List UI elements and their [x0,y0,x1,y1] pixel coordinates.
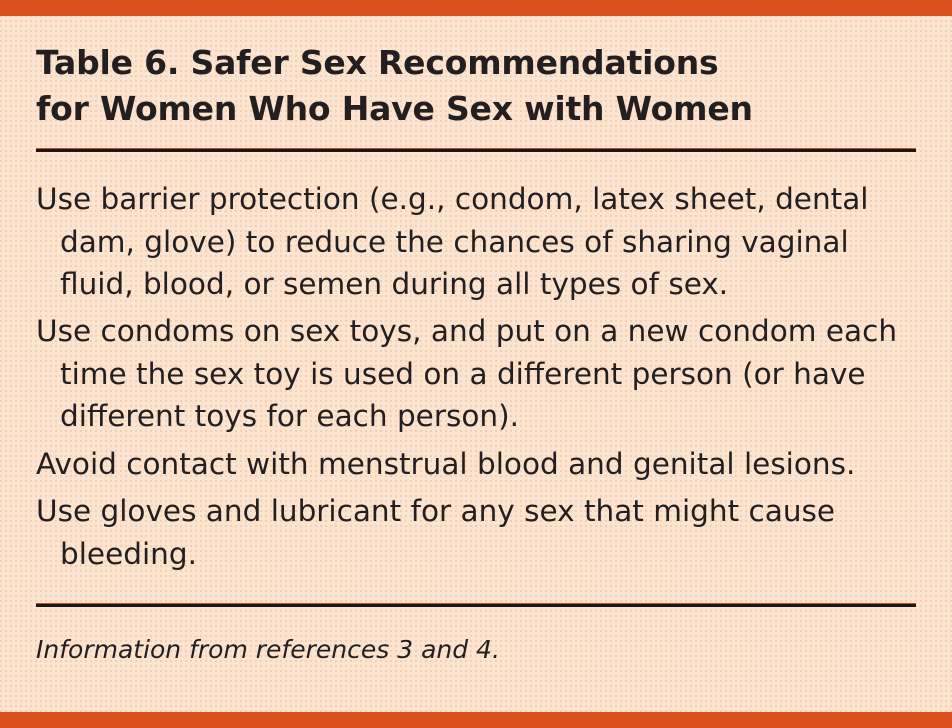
title-divider [36,149,916,152]
footnote-text: Information from references 3 and 4. [36,634,500,667]
bottom-accent-bar [0,712,952,728]
table-content: Table 6. Safer Sex Recommendations for W… [0,16,952,712]
table-card: Table 6. Safer Sex Recommendations for W… [0,0,952,728]
list-item: Use barrier protection (e.g., condom, la… [36,178,916,305]
page-title: Table 6. Safer Sex Recommendations for W… [36,16,916,131]
top-accent-bar [0,0,952,16]
list-item: Avoid contact with menstrual blood and g… [36,443,916,485]
footnote-divider [36,604,916,607]
list-item: Use condoms on sex toys, and put on a ne… [36,310,916,437]
recommendations-list: Use barrier protection (e.g., condom, la… [36,178,916,575]
recommendations-section: Use barrier protection (e.g., condom, la… [36,178,916,575]
list-item: Use gloves and lubricant for any sex tha… [36,490,916,575]
